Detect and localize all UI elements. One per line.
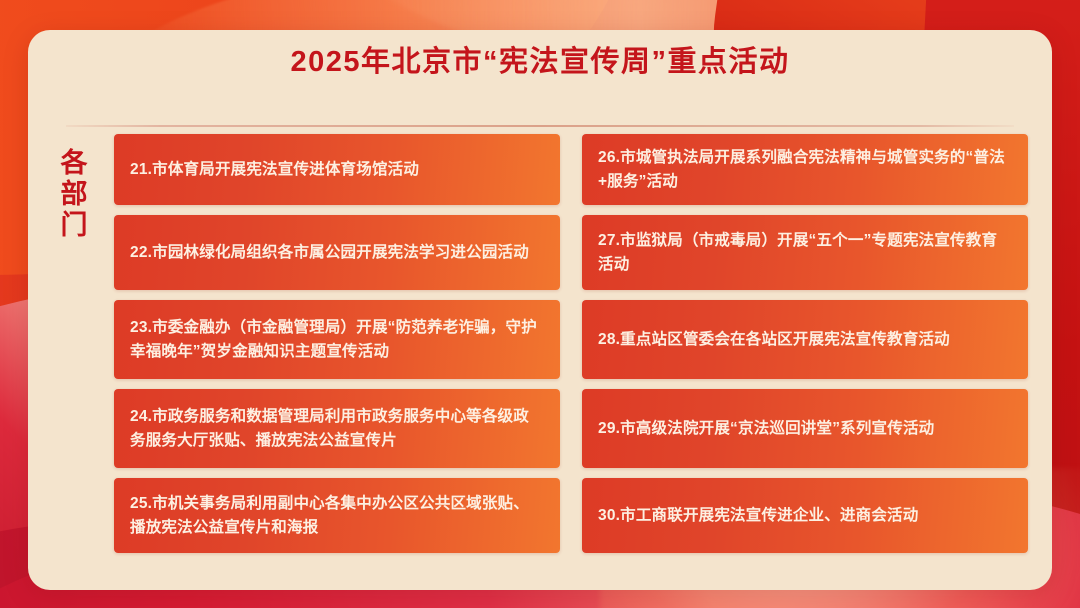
activity-item-26[interactable]: 26.市城管执法局开展系列融合宪法精神与城管实务的“普法+服务”活动 [582,134,1028,205]
activity-item-22[interactable]: 22.市园林绿化局组织各市属公园开展宪法学习进公园活动 [114,215,560,290]
activity-item-23[interactable]: 23.市委金融办（市金融管理局）开展“防范养老诈骗，守护幸福晚年”贺岁金融知识主… [114,300,560,379]
left-column: 21.市体育局开展宪法宣传进体育场馆活动 22.市园林绿化局组织各市属公园开展宪… [114,134,560,553]
page-title: 2025年北京市“宪法宣传周”重点活动 [28,44,1052,82]
header-divider [66,125,1014,127]
activity-item-30-text: 30.市工商联开展宪法宣传进企业、进商会活动 [598,504,918,528]
activity-item-21-text: 21.市体育局开展宪法宣传进体育场馆活动 [130,158,419,182]
activity-item-24-text: 24.市政务服务和数据管理局利用市政务服务中心等各级政务服务大厅张贴、播放宪法公… [130,405,544,452]
activity-item-29[interactable]: 29.市高级法院开展“京法巡回讲堂”系列宣传活动 [582,389,1028,468]
activity-item-27[interactable]: 27.市监狱局（市戒毒局）开展“五个一”专题宪法宣传教育活动 [582,215,1028,290]
activity-item-21[interactable]: 21.市体育局开展宪法宣传进体育场馆活动 [114,134,560,205]
section-label: 各部门 [28,134,114,241]
section-label-text: 各部门 [55,148,88,241]
activity-item-28[interactable]: 28.重点站区管委会在各站区开展宪法宣传教育活动 [582,300,1028,379]
activity-item-23-text: 23.市委金融办（市金融管理局）开展“防范养老诈骗，守护幸福晚年”贺岁金融知识主… [130,316,544,363]
activity-item-30[interactable]: 30.市工商联开展宪法宣传进企业、进商会活动 [582,478,1028,553]
activity-item-25-text: 25.市机关事务局利用副中心各集中办公区公共区域张贴、播放宪法公益宣传片和海报 [130,492,544,539]
activity-item-24[interactable]: 24.市政务服务和数据管理局利用市政务服务中心等各级政务服务大厅张贴、播放宪法公… [114,389,560,468]
activity-item-27-text: 27.市监狱局（市戒毒局）开展“五个一”专题宪法宣传教育活动 [598,229,1012,276]
content-panel: 2025年北京市“宪法宣传周”重点活动 各部门 21.市体育局开展宪法宣传进体育… [28,30,1052,590]
activity-item-25[interactable]: 25.市机关事务局利用副中心各集中办公区公共区域张贴、播放宪法公益宣传片和海报 [114,478,560,553]
content-area: 各部门 21.市体育局开展宪法宣传进体育场馆活动 22.市园林绿化局组织各市属公… [28,134,1052,574]
activity-item-22-text: 22.市园林绿化局组织各市属公园开展宪法学习进公园活动 [130,241,529,265]
activity-item-29-text: 29.市高级法院开展“京法巡回讲堂”系列宣传活动 [598,417,934,441]
activity-item-26-text: 26.市城管执法局开展系列融合宪法精神与城管实务的“普法+服务”活动 [598,146,1012,193]
right-column: 26.市城管执法局开展系列融合宪法精神与城管实务的“普法+服务”活动 27.市监… [582,134,1028,553]
poster-root: 2025年北京市“宪法宣传周”重点活动 各部门 21.市体育局开展宪法宣传进体育… [0,0,1080,608]
activity-columns: 21.市体育局开展宪法宣传进体育场馆活动 22.市园林绿化局组织各市属公园开展宪… [114,134,1052,553]
activity-item-28-text: 28.重点站区管委会在各站区开展宪法宣传教育活动 [598,328,950,352]
